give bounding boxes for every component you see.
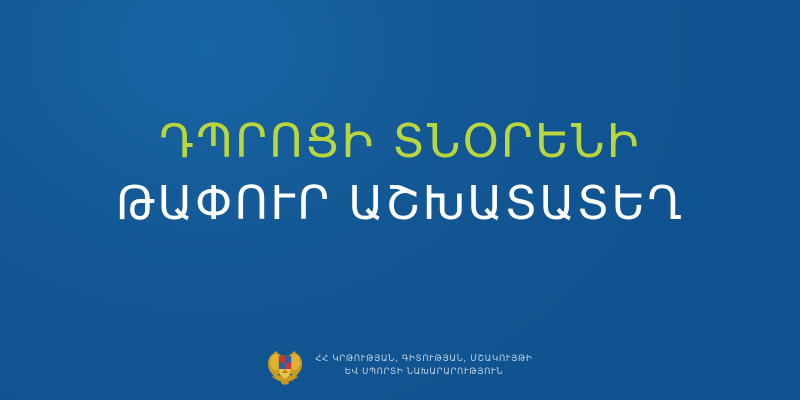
ministry-footer: ՀՀ ԿՐԹՈՒԹՅԱՆ, ԳԻՏՈՒԹՅԱՆ, ՄՇԱԿՈՒՅԹԻ ԵՎ ՍՊ… bbox=[0, 346, 800, 386]
headline-line-secondary: ԹԱՓՈՒՐ ԱՇԽԱՏԱՏԵՂ bbox=[0, 180, 800, 226]
ministry-name-line-1: ՀՀ ԿՐԹՈՒԹՅԱՆ, ԳԻՏՈՒԹՅԱՆ, ՄՇԱԿՈՒՅԹԻ bbox=[315, 354, 532, 365]
armenia-coat-of-arms-icon bbox=[267, 346, 303, 386]
ministry-name: ՀՀ ԿՐԹՈՒԹՅԱՆ, ԳԻՏՈՒԹՅԱՆ, ՄՇԱԿՈՒՅԹԻ ԵՎ ՍՊ… bbox=[315, 354, 532, 377]
headline: ԴՊՐՈՑԻ ՏՆՕՐԵՆԻ ԹԱՓՈՒՐ ԱՇԽԱՏԱՏԵՂ bbox=[0, 118, 800, 226]
ministry-name-line-2: ԵՎ ՍՊՈՐՏԻ ՆԱԽԱՐԱՐՈՒԹՅՈՒՆ bbox=[345, 367, 503, 378]
announcement-banner: ԴՊՐՈՑԻ ՏՆՕՐԵՆԻ ԹԱՓՈՒՐ ԱՇԽԱՏԱՏԵՂ bbox=[0, 0, 800, 400]
headline-line-primary: ԴՊՐՈՑԻ ՏՆՕՐԵՆԻ bbox=[0, 118, 800, 164]
